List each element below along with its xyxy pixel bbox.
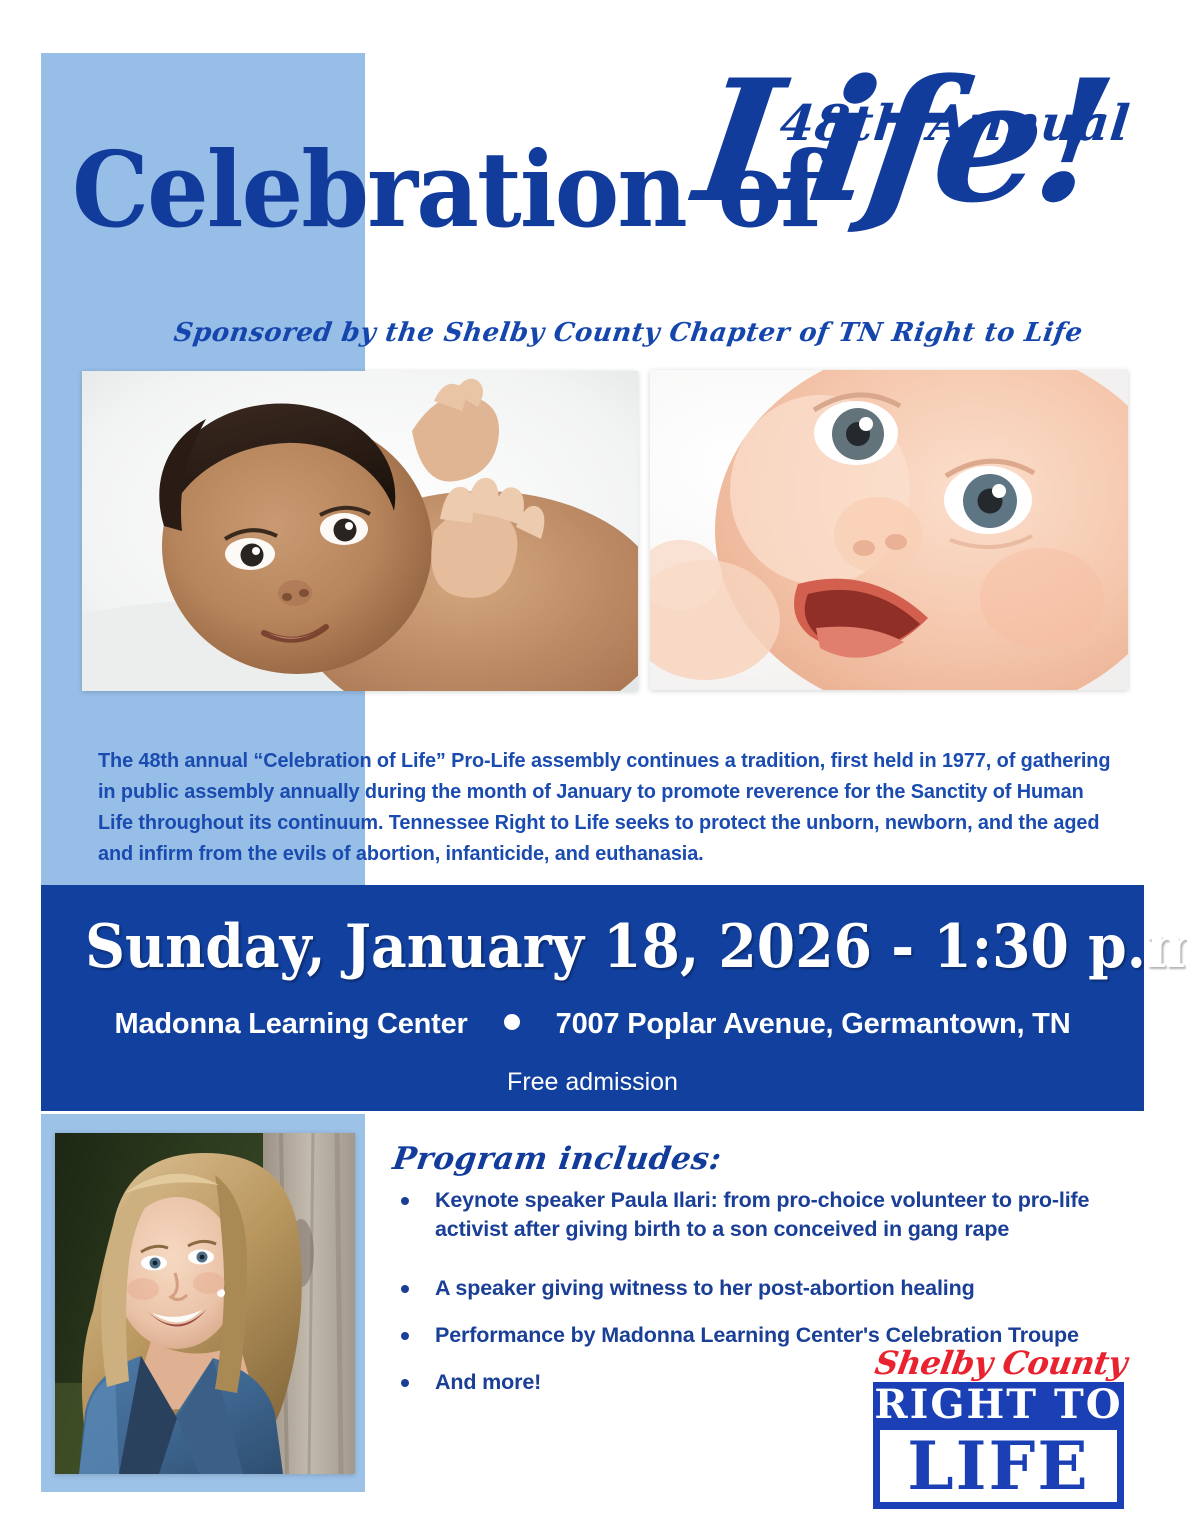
newborn-baby-illustration (82, 371, 638, 691)
bullet-icon (401, 1332, 409, 1340)
logo-right-to-text: RIGHT TO (873, 1384, 1124, 1426)
page-title: Celebration of Life! (72, 138, 1132, 242)
intro-paragraph: The 48th annual “Celebration of Life” Pr… (98, 745, 1115, 869)
bullet-icon (401, 1379, 409, 1387)
sponsored-by-line: Sponsored by the Shelby County Chapter o… (172, 318, 1085, 348)
admission-note: Free admission (41, 1068, 1144, 1097)
program-item-text: Keynote speaker Paula Ilari: from pro-ch… (435, 1188, 1089, 1241)
newborn-baby-photo (82, 371, 638, 691)
program-heading: Program includes: (390, 1141, 723, 1177)
shelby-county-right-to-life-logo: Shelby County RIGHT TO LIFE (873, 1344, 1129, 1512)
event-venue-address: Madonna Learning Center7007 Poplar Avenu… (41, 1008, 1144, 1041)
program-item-text: And more! (435, 1370, 541, 1394)
separator-dot-icon (504, 1014, 520, 1030)
event-date-time: Sunday, January 18, 2026 - 1:30 p.m. (85, 915, 1100, 979)
venue-name: Madonna Learning Center (115, 1008, 468, 1040)
keynote-speaker-portrait (55, 1133, 355, 1474)
bullet-icon (401, 1285, 409, 1293)
poster-header: 48th Annual Celebration of Life! Sponsor… (0, 60, 1187, 310)
bullet-icon (401, 1197, 409, 1205)
title-life: Life! (691, 76, 1114, 206)
smiling-baby-illustration (650, 370, 1128, 690)
list-item: Keynote speaker Paula Ilari: from pro-ch… (393, 1186, 1113, 1244)
keynote-speaker-photo (55, 1133, 355, 1474)
logo-life-text: LIFE (879, 1430, 1118, 1502)
list-item: A speaker giving witness to her post-abo… (393, 1274, 1113, 1303)
venue-address: 7007 Poplar Avenue, Germantown, TN (556, 1008, 1071, 1040)
smiling-baby-photo (650, 370, 1128, 690)
program-item-text: A speaker giving witness to her post-abo… (435, 1276, 975, 1300)
logo-shelby-county-text: Shelby County (870, 1344, 1132, 1382)
